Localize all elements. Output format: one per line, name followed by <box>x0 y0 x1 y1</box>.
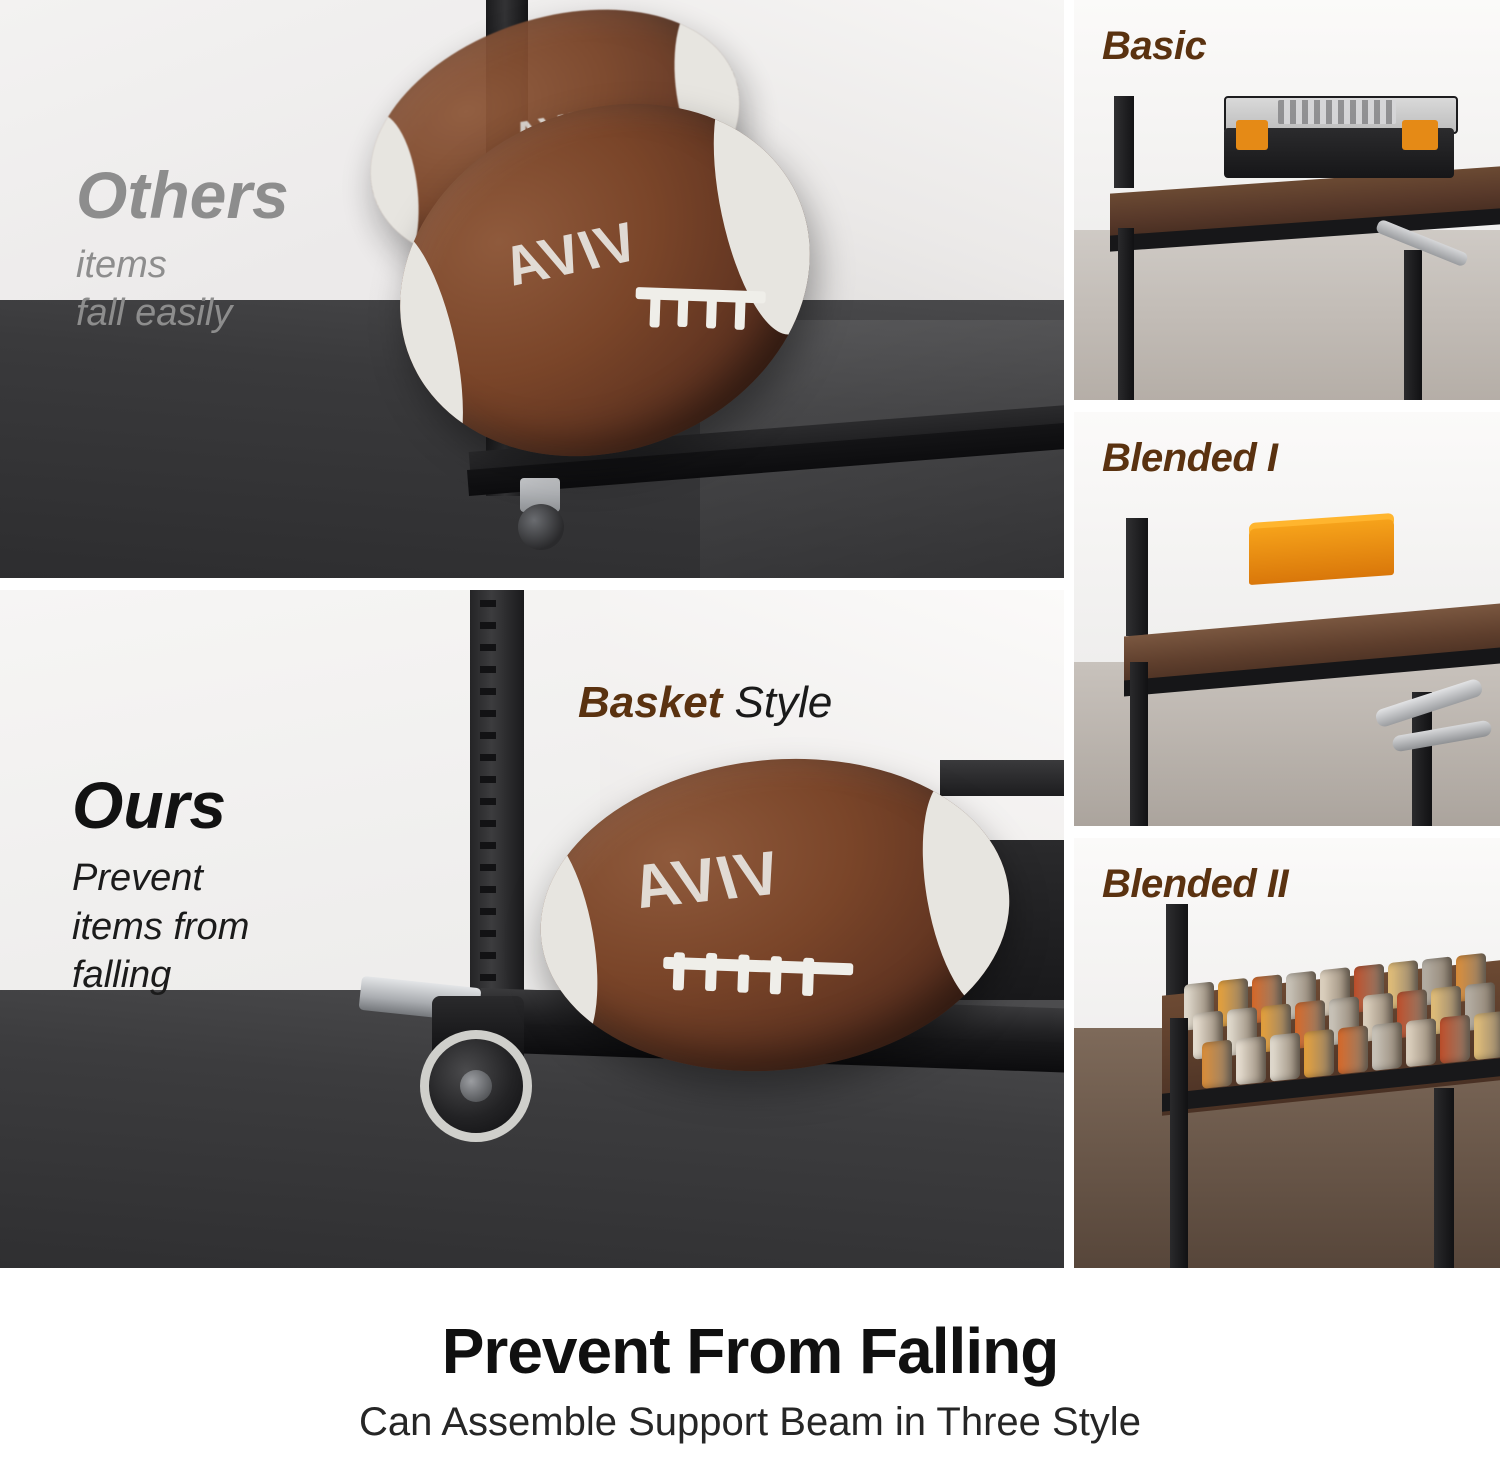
shelf-leg-left <box>1118 228 1134 400</box>
product-feature-image: VIVA VIVA Others items fall easily <box>0 0 1500 1479</box>
ours-caption: Ours Prevent items from falling <box>72 772 249 1000</box>
shelf-upright-post <box>1114 96 1134 188</box>
spray-can <box>1270 1032 1300 1081</box>
shelf-upright-post <box>470 590 524 1020</box>
shelf-leg-right <box>1404 250 1422 400</box>
ours-subtitle-line1: Prevent <box>72 854 249 903</box>
others-title: Others <box>76 162 289 228</box>
basic-title: Basic <box>1102 24 1206 69</box>
others-subtitle: items fall easily <box>76 242 289 337</box>
ours-subtitle-line2: items from <box>72 903 249 952</box>
panel-basic-photo: Basic <box>1074 0 1500 400</box>
spray-can <box>1474 1011 1500 1060</box>
storage-bin <box>1249 519 1394 585</box>
others-subtitle-line2: fall easily <box>76 290 289 338</box>
shelf-caster-wheel <box>360 982 535 1142</box>
ours-subtitle: Prevent items from falling <box>72 854 249 1000</box>
shelf-caster-wheel <box>512 478 568 550</box>
blended-two-title: Blended II <box>1102 862 1288 907</box>
spray-can <box>1338 1025 1368 1074</box>
ours-subtitle-line3: falling <box>72 951 249 1000</box>
spray-can <box>1202 1040 1232 1089</box>
football-brand-text: VIVA <box>629 837 784 923</box>
panel-blended-two-photo: Blended II <box>1074 838 1500 1268</box>
others-subtitle-line1: items <box>76 242 289 290</box>
footer-headline: Prevent From Falling <box>0 1314 1500 1388</box>
shelf-upright-post <box>1126 518 1148 636</box>
footer-caption: Prevent From Falling Can Assemble Suppor… <box>0 1280 1500 1479</box>
shelf-leg-left <box>1170 1018 1188 1268</box>
panel-others-photo: VIVA VIVA Others items fall easily <box>0 0 1064 578</box>
panel-blended-one-photo: Blended I <box>1074 412 1500 826</box>
spray-can <box>1304 1029 1334 1078</box>
spray-can <box>1440 1015 1470 1064</box>
basket-style-label-bold: Basket <box>578 678 722 727</box>
basket-style-label: Basket Style <box>578 678 832 728</box>
shelf-leg-left <box>1130 662 1148 826</box>
blended-one-title: Blended I <box>1102 436 1278 481</box>
post-slot-holes <box>480 600 496 1020</box>
basket-style-label-italic: Style <box>722 678 832 727</box>
others-caption: Others items fall easily <box>76 162 289 337</box>
shelf-leg-right <box>1434 1088 1454 1268</box>
football-brand-text: VIVA <box>497 208 642 300</box>
spray-can <box>1236 1036 1266 1085</box>
tool-organizer-box <box>1224 96 1454 178</box>
spray-can <box>1372 1022 1402 1071</box>
spray-can <box>1406 1018 1436 1067</box>
ours-title: Ours <box>72 772 249 838</box>
footer-subline: Can Assemble Support Beam in Three Style <box>0 1400 1500 1445</box>
